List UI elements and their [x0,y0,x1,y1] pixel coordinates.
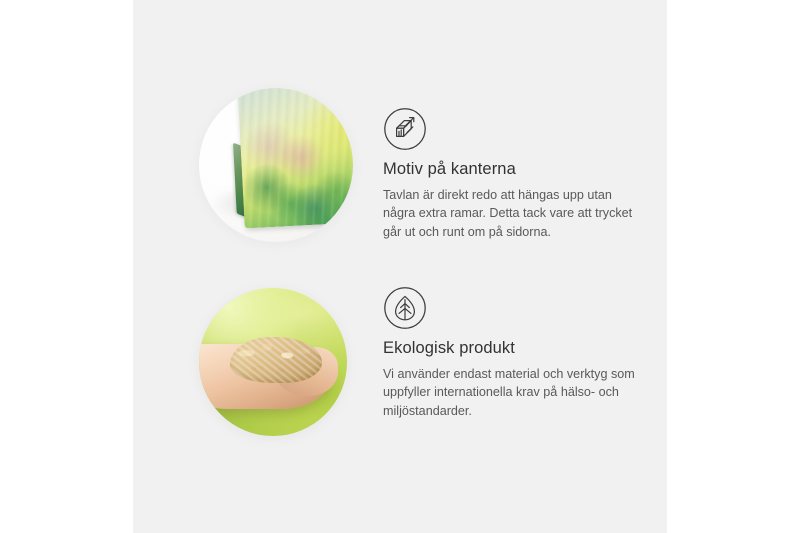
hands-with-wood-chips-photo [199,288,347,436]
feature-2-text-column: Ekologisk produkt Vi använder endast mat… [383,286,651,420]
feature-1-body: Tavlan är direkt redo att hängas upp uta… [383,186,645,242]
print-paint-texture [237,88,353,229]
wood-chips-pile [230,337,322,383]
feature-1-title: Motiv på kanterna [383,159,651,180]
leaf-icon [383,286,427,330]
wrapped-canvas-edge-icon [383,107,427,151]
content-panel [133,0,667,533]
feature-2-title: Ekologisk produkt [383,338,651,359]
feature-2-body: Vi använder endast material och verktyg … [383,365,645,421]
product-info-graphic: Motiv på kanterna Tavlan är direkt redo … [0,0,800,533]
canvas-print-corner-photo [199,88,353,242]
feature-1-text-column: Motiv på kanterna Tavlan är direkt redo … [383,107,651,241]
